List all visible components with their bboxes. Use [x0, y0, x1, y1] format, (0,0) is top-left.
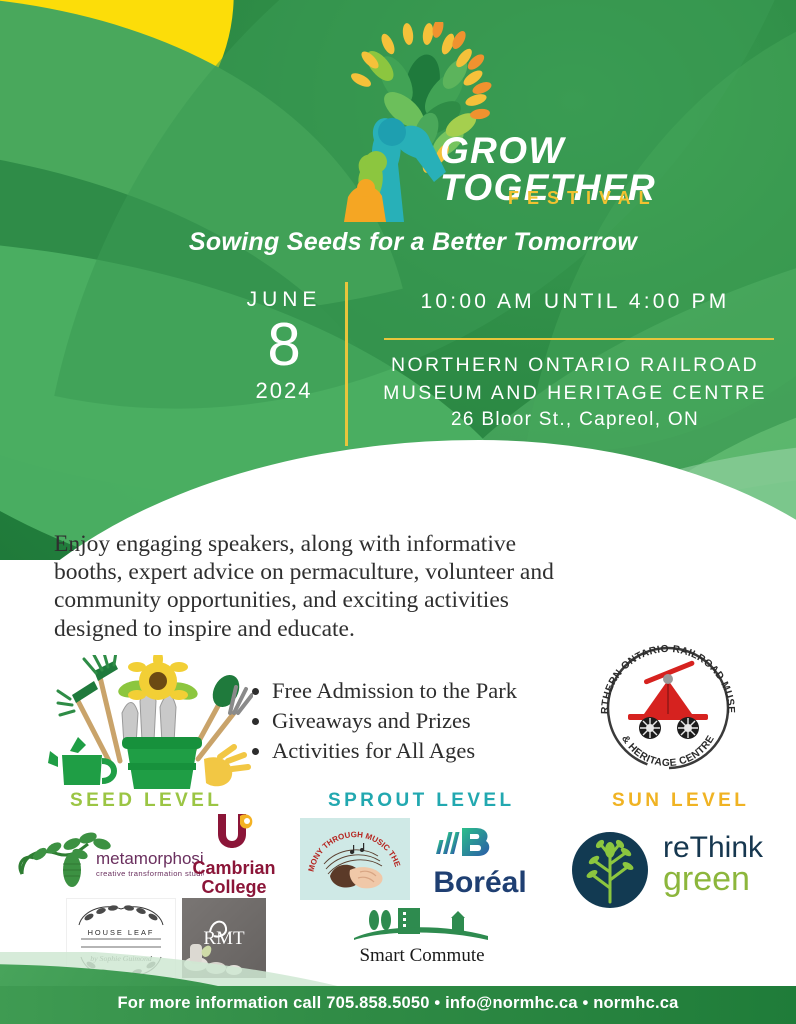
sponsor-name: Boréal	[433, 866, 526, 899]
venue-line-1: NORTHERN ONTARIO RAILROAD	[368, 352, 782, 380]
cambrian-shield-logo	[180, 812, 288, 852]
sponsor-metamorphosis: metamorphosis creative transformation st…	[14, 820, 204, 892]
railroad-handcar-icon	[628, 660, 708, 739]
sponsor-name-line2: green	[663, 863, 763, 895]
highlights-list: Free Admission to the Park Giveaways and…	[252, 676, 517, 766]
sponsor-harmony-music-therapy: HARMONY THROUGH MUSIC THERAPY	[300, 818, 410, 900]
sponsor-level-sun: SUN LEVEL	[612, 790, 749, 812]
sponsor-level-seed: SEED LEVEL	[70, 790, 222, 812]
sponsor-name-line2: College	[201, 877, 266, 897]
smart-commute-skyline-logo	[346, 908, 498, 942]
sponsor-cambrian-college: Cambrian College	[180, 812, 288, 898]
list-item: Free Admission to the Park	[272, 676, 517, 706]
sponsor-name-line1: Cambrian	[192, 858, 275, 878]
boreal-b-logo	[436, 828, 489, 856]
tagline: Sowing Seeds for a Better Tomorrow	[0, 228, 796, 257]
rethink-green-tree-logo	[570, 830, 650, 910]
museum-badge: NORTHERN ONTARIO RAILROAD MUSEUM & HERIT…	[592, 632, 744, 784]
event-time: 10:00 AM UNTIL 4:00 PM	[370, 290, 780, 314]
brand-subtitle: FESTIVAL	[508, 188, 658, 209]
event-date-block: JUNE 8 2024	[228, 288, 340, 404]
vertical-divider	[345, 282, 348, 446]
sponsor-name-line1: reThink	[663, 834, 763, 863]
event-day: 8	[228, 313, 340, 376]
badge-arc-bottom: & HERITAGE CENTRE	[619, 734, 717, 769]
event-year: 2024	[228, 378, 340, 404]
svg-text:& HERITAGE CENTRE: & HERITAGE CENTRE	[619, 734, 717, 769]
sponsor-boreal: Boréal	[420, 826, 540, 902]
horizontal-divider	[384, 338, 774, 340]
event-venue: NORTHERN ONTARIO RAILROAD MUSEUM AND HER…	[368, 352, 782, 434]
sponsor-rethink-green: reThink green	[570, 830, 785, 910]
sponsor-level-sprout: SPROUT LEVEL	[328, 790, 514, 812]
event-month: JUNE	[228, 288, 340, 311]
list-item: Activities for All Ages	[272, 736, 517, 766]
garden-tools-illustration	[48, 655, 253, 790]
list-item: Giveaways and Prizes	[272, 706, 517, 736]
footer-contact-text: For more information call 705.858.5050 •…	[0, 994, 796, 1013]
sponsor-name: RMT	[203, 928, 245, 949]
description-text: Enjoy engaging speakers, along with info…	[54, 530, 574, 643]
festival-poster: GROW TOGETHER FESTIVAL Sowing Seeds for …	[0, 0, 796, 1024]
venue-line-2: MUSEUM AND HERITAGE CENTRE	[368, 380, 782, 408]
venue-address: 26 Bloor St., Capreol, ON	[368, 407, 782, 434]
sponsor-name: HOUSE LEAF	[88, 928, 155, 937]
